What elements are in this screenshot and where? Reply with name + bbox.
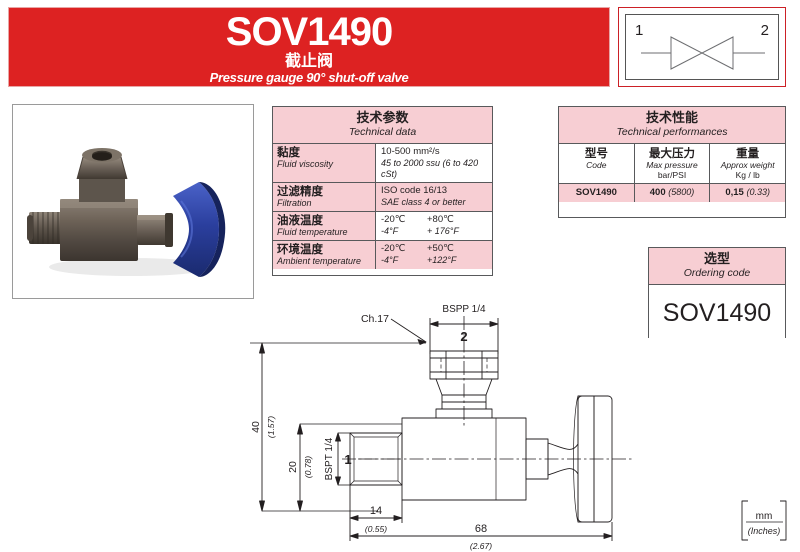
technical-performances-title-cn: 技术性能	[559, 111, 785, 126]
label-units-inches: (Inches)	[748, 526, 781, 536]
row-label-filtration: 过滤精度 Filtration	[273, 183, 376, 211]
row-value-primary: 10-500 mm²/s	[381, 146, 492, 158]
row-value-filtration: ISO code 16/13 SAE class 4 or better	[376, 183, 492, 211]
valve-photo-illustration	[13, 105, 253, 298]
column-header-max-pressure: 最大压力 Max pressure bar/PSI	[635, 144, 711, 183]
row-label-en: Ambient temperature	[277, 256, 375, 267]
value-max-f: + 176°F	[427, 226, 459, 237]
label-bspp-thread: BSPP 1/4	[442, 304, 486, 315]
value-min-c: -20℃	[381, 214, 427, 226]
dim-width-14	[350, 485, 402, 523]
technical-data-header: 技术参数 Technical data	[273, 107, 492, 144]
row-value-viscosity: 10-500 mm²/s 45 to 2000 ssu (6 to 420 cS…	[376, 144, 492, 182]
column-header-en: Max pressure	[635, 160, 710, 170]
value-max-c: +50℃	[427, 243, 454, 255]
column-header-code: 型号 Code	[559, 144, 635, 183]
center-lines	[342, 316, 632, 459]
label-dim-height-mm: 40	[250, 421, 262, 433]
row-label-cn: 环境温度	[277, 243, 375, 256]
technical-data-title-cn: 技术参数	[273, 111, 492, 126]
row-value-primary: -20℃ +50℃	[381, 243, 492, 255]
table-row: SOV1490 400 (5800) 0,15 (0.33)	[559, 184, 785, 202]
column-header-cn: 重量	[710, 147, 785, 160]
label-dim-center-in: (0.78)	[303, 456, 313, 478]
row-label-viscosity: 黏度 Fluid viscosity	[273, 144, 376, 182]
table-row: 过滤精度 Filtration ISO code 16/13 SAE class…	[273, 183, 492, 212]
header-banner: SOV1490 截止阀 Pressure gauge 90° shut-off …	[8, 7, 610, 87]
row-label-ambient-temperature: 环境温度 Ambient temperature	[273, 241, 376, 269]
ordering-code-title-en: Ordering code	[649, 267, 785, 279]
table-row: 环境温度 Ambient temperature -20℃ +50℃ -4°F …	[273, 241, 492, 269]
row-label-en: Fluid temperature	[277, 227, 375, 238]
value-min-c: -20℃	[381, 243, 427, 255]
ordering-code-title-cn: 选型	[649, 252, 785, 267]
label-bspt-thread: BSPT 1/4	[324, 437, 335, 480]
column-header-cn: 最大压力	[635, 147, 710, 160]
technical-performances-header: 技术性能 Technical performances	[559, 107, 785, 144]
value-max-c: +80℃	[427, 214, 454, 226]
row-label-fluid-temperature: 油液温度 Fluid temperature	[273, 212, 376, 240]
row-value-secondary: 45 to 2000 ssu (6 to 420 cSt)	[381, 158, 492, 180]
column-header-unit: Kg / lb	[710, 170, 785, 180]
table-row: 油液温度 Fluid temperature -20℃ +80℃ -4°F + …	[273, 212, 492, 241]
cell-code: SOV1490	[559, 184, 635, 202]
dim-height-40	[250, 296, 378, 511]
technical-data-table: 技术参数 Technical data 黏度 Fluid viscosity 1…	[272, 106, 493, 276]
row-label-cn: 黏度	[277, 146, 375, 159]
value-min-f: -4°F	[381, 255, 427, 266]
technical-performances-title-en: Technical performances	[559, 126, 785, 138]
valve-symbol-box: 1 2	[618, 7, 786, 87]
value-min-f: -4°F	[381, 226, 427, 237]
label-dim-length-mm: 68	[475, 523, 487, 535]
table-header-row: 型号 Code 最大压力 Max pressure bar/PSI 重量 App…	[559, 144, 785, 184]
label-dim-center-mm: 20	[287, 461, 299, 473]
cell-max-pressure: 400 (5800)	[635, 184, 711, 202]
row-value-secondary: -4°F + 176°F	[381, 226, 492, 237]
technical-drawing: BSPP 1/4 Ch.17 2 1 40 (1.57) 20 (0.78) B…	[250, 296, 800, 552]
column-header-en: Code	[559, 160, 634, 170]
row-value-primary: -20℃ +80℃	[381, 214, 492, 226]
pressure-bar: 400	[650, 187, 666, 198]
label-port-2: 2	[460, 329, 467, 344]
row-label-en: Fluid viscosity	[277, 159, 375, 170]
row-value-secondary: -4°F +122°F	[381, 255, 492, 266]
page-title: SOV1490	[226, 12, 392, 52]
column-header-unit: bar/PSI	[635, 170, 710, 180]
label-units-mm: mm	[756, 511, 773, 522]
label-ch17: Ch.17	[361, 313, 389, 325]
value-max-f: +122°F	[427, 255, 456, 266]
ordering-code-header: 选型 Ordering code	[649, 248, 785, 285]
column-header-cn: 型号	[559, 147, 634, 160]
shut-off-valve-bowtie-icon	[619, 8, 785, 86]
leader-ch17	[391, 319, 426, 345]
column-header-weight: 重量 Approx weight Kg / lb	[710, 144, 785, 183]
label-port-1: 1	[344, 452, 351, 467]
column-header-en: Approx weight	[710, 160, 785, 170]
label-dim-length-in: (2.67)	[470, 541, 492, 551]
row-value-fluid-temperature: -20℃ +80℃ -4°F + 176°F	[376, 212, 492, 240]
row-label-cn: 过滤精度	[277, 185, 375, 198]
label-dim-height-in: (1.57)	[266, 416, 276, 438]
technical-performances-table: 技术性能 Technical performances 型号 Code 最大压力…	[558, 106, 786, 218]
row-label-cn: 油液温度	[277, 214, 375, 227]
row-value-secondary: SAE class 4 or better	[381, 197, 492, 208]
pressure-psi: (5800)	[668, 187, 694, 197]
label-dim-width-in: (0.55)	[365, 524, 387, 534]
row-label-en: Filtration	[277, 198, 375, 209]
label-dim-width-mm: 14	[370, 505, 382, 517]
product-photo	[12, 104, 254, 299]
row-value-primary: ISO code 16/13	[381, 185, 492, 197]
weight-lb: (0.33)	[746, 187, 770, 197]
weight-kg: 0,15	[725, 187, 744, 198]
table-row: 黏度 Fluid viscosity 10-500 mm²/s 45 to 20…	[273, 144, 492, 183]
datasheet-page: SOV1490 截止阀 Pressure gauge 90° shut-off …	[0, 0, 800, 552]
row-value-ambient-temperature: -20℃ +50℃ -4°F +122°F	[376, 241, 492, 269]
header-subtitle-en: Pressure gauge 90° shut-off valve	[210, 70, 409, 85]
technical-data-title-en: Technical data	[273, 126, 492, 138]
valve-dimension-drawing: BSPP 1/4 Ch.17 2 1 40 (1.57) 20 (0.78) B…	[250, 296, 800, 552]
header-subtitle-cn: 截止阀	[285, 52, 333, 69]
cell-weight: 0,15 (0.33)	[710, 184, 785, 202]
